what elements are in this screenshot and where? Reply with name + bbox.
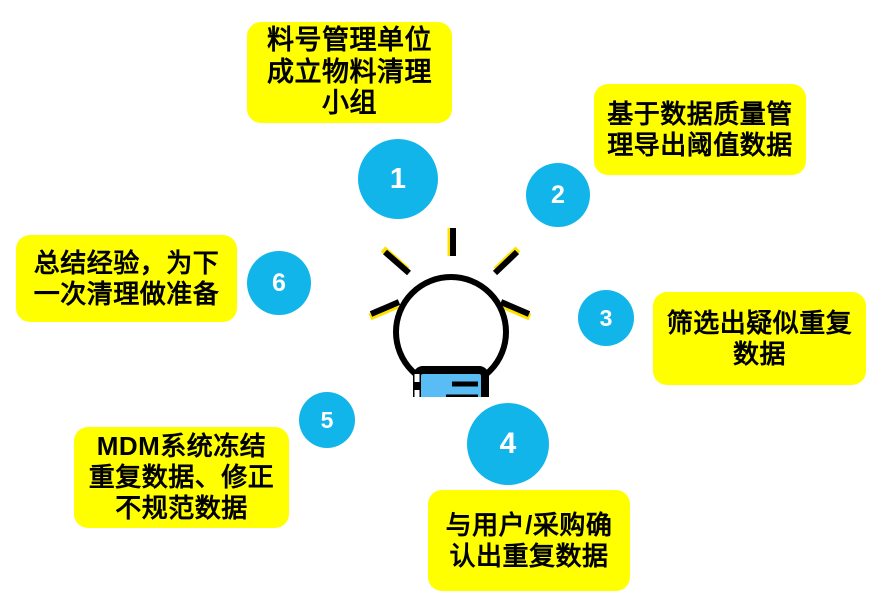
diagram-canvas: 料号管理单位 成立物料清理 小组 1 基于数据质量管 理导出阈值数据 2 筛选出…: [0, 0, 893, 614]
step-number-5[interactable]: 5: [299, 392, 355, 448]
step-number-4[interactable]: 4: [467, 403, 549, 485]
step-number-2[interactable]: 2: [526, 163, 590, 227]
step-note-1[interactable]: 料号管理单位 成立物料清理 小组: [247, 22, 452, 123]
step-note-5[interactable]: MDM系统冻结 重复数据、修正 不规范数据: [74, 427, 289, 528]
lightbulb-icon: [350, 222, 550, 397]
step-note-2[interactable]: 基于数据质量管 理导出阈值数据: [594, 84, 806, 175]
lightbulb-svg: [350, 222, 550, 397]
step-note-3[interactable]: 筛选出疑似重复 数据: [653, 292, 866, 385]
step-number-1[interactable]: 1: [358, 139, 438, 219]
step-number-6[interactable]: 6: [247, 251, 311, 315]
step-note-6[interactable]: 总结经验，为下 一次清理做准备: [16, 235, 237, 322]
step-note-4[interactable]: 与用户/采购确 认出重复数据: [428, 490, 630, 591]
step-number-3[interactable]: 3: [578, 290, 634, 346]
